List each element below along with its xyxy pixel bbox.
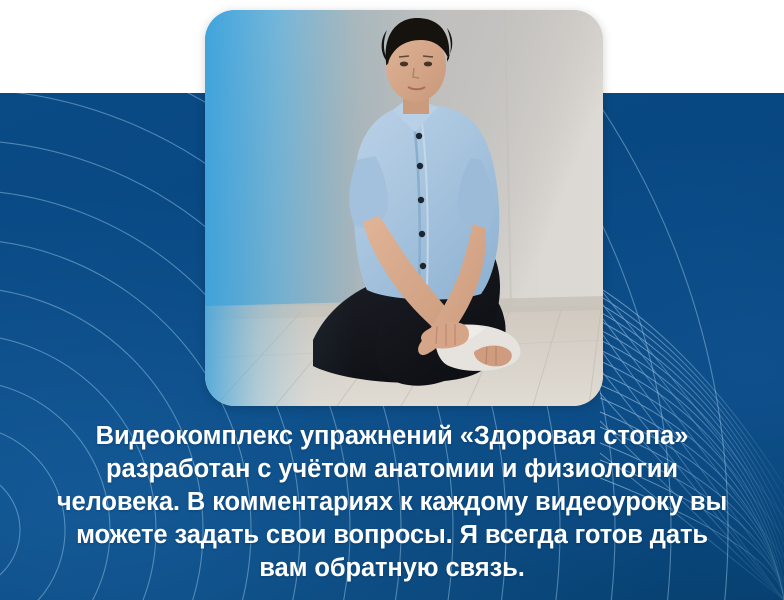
caption-line-2: разработан с учётом анатомии и физиологи…: [34, 453, 750, 486]
promo-slide: Видеокомплекс упражнений «Здоровая стопа…: [0, 0, 784, 600]
caption-line-3: человека. В комментариях к каждому видео…: [34, 486, 750, 519]
caption-text: Видеокомплекс упражнений «Здоровая стопа…: [0, 420, 784, 585]
photo-card: [205, 10, 603, 406]
caption-line-4: можете задать свои вопросы. Я всегда гот…: [34, 519, 750, 552]
caption-line-1: Видеокомплекс упражнений «Здоровая стопа…: [34, 420, 750, 453]
photo-illustration: [205, 10, 603, 406]
caption-line-5: вам обратную связь.: [34, 552, 750, 585]
